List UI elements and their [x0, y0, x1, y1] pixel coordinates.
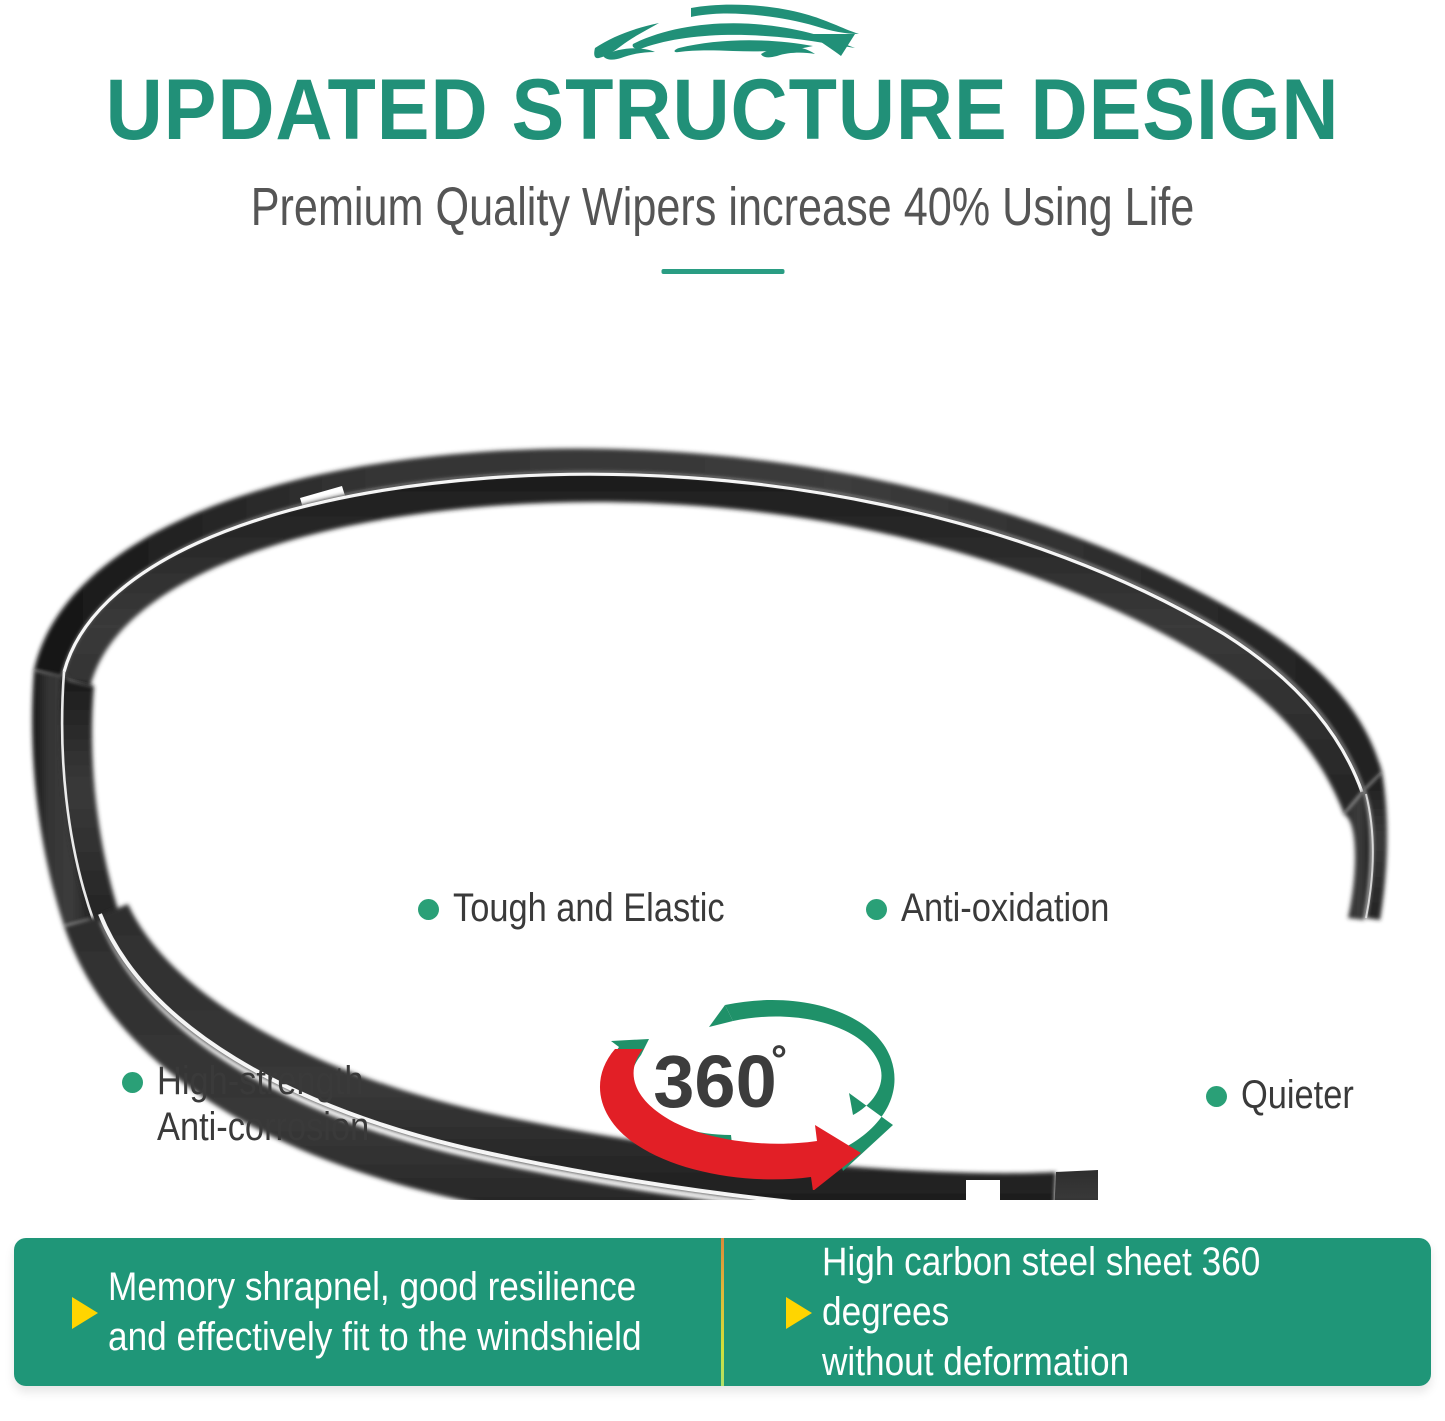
- 360-degree-badge-icon: 360 °: [575, 975, 920, 1190]
- banner-panel-right: High carbon steel sheet 360 degrees with…: [724, 1238, 1431, 1386]
- callout-high-strength-anti-corrosion: High-strength Anti-corrosion: [122, 1058, 404, 1150]
- banner-text-right: High carbon steel sheet 360 degrees with…: [822, 1238, 1358, 1386]
- header: UPDATED STRUCTURE DESIGN Premium Quality…: [0, 0, 1445, 300]
- page-subtitle: Premium Quality Wipers increase 40% Usin…: [145, 176, 1301, 238]
- bottom-feature-banner: Memory shrapnel, good resilience and eff…: [14, 1238, 1431, 1386]
- banner-panel-left: Memory shrapnel, good resilience and eff…: [14, 1238, 721, 1386]
- callout-label: Quieter: [1241, 1072, 1354, 1118]
- callout-label: High-strength Anti-corrosion: [157, 1058, 369, 1150]
- car-silhouette-logo-icon: [573, 4, 873, 66]
- banner-text-left: Memory shrapnel, good resilience and eff…: [108, 1262, 642, 1362]
- badge-value: 360: [653, 1040, 776, 1123]
- title-divider: [661, 269, 784, 274]
- callout-label: Tough and Elastic: [453, 885, 725, 931]
- callout-label: Anti-oxidation: [901, 885, 1109, 931]
- green-dot-icon: [1206, 1086, 1227, 1107]
- green-dot-icon: [122, 1072, 143, 1093]
- callout-quieter: Quieter: [1206, 1072, 1372, 1118]
- callout-anti-oxidation: Anti-oxidation: [866, 885, 1143, 931]
- product-stage: 360 ° Tough and Elastic Anti-oxidation H…: [0, 320, 1445, 1200]
- page-title: UPDATED STRUCTURE DESIGN: [58, 62, 1387, 158]
- green-dot-icon: [418, 899, 439, 920]
- yellow-triangle-icon: [786, 1297, 812, 1329]
- callout-tough-and-elastic: Tough and Elastic: [418, 885, 769, 931]
- green-dot-icon: [866, 899, 887, 920]
- yellow-triangle-icon: [72, 1297, 98, 1329]
- badge-degree-symbol: °: [771, 1038, 787, 1082]
